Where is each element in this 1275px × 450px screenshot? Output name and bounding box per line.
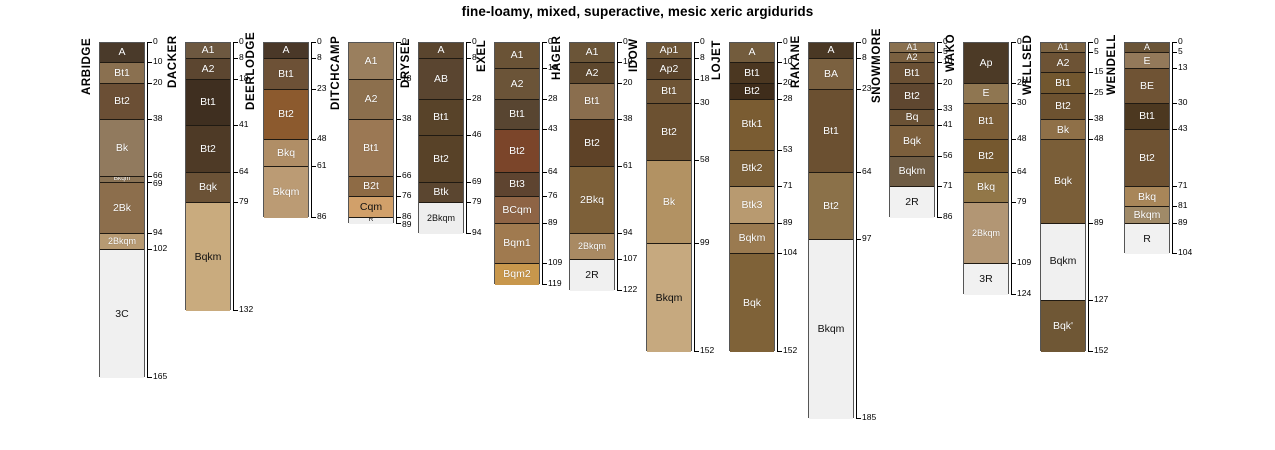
depth-tick-mark	[1172, 68, 1177, 69]
depth-tick-mark	[694, 243, 699, 244]
depth-tick-mark	[1172, 129, 1177, 130]
horizon-label: 2Bkqm	[108, 237, 136, 246]
horizon-label: Bt2	[509, 146, 525, 157]
horizon-block: Bt1	[570, 84, 614, 121]
horizon-label: Bkqm	[1134, 210, 1161, 221]
horizon-label: Bqm2	[503, 269, 530, 280]
depth-tick-mark	[937, 125, 942, 126]
depth-tick-label: 109	[1017, 258, 1031, 267]
depth-tick-mark	[1172, 103, 1177, 104]
profile-name-label: WENDELL	[1106, 34, 1118, 95]
horizon-label: Bt1	[200, 97, 216, 108]
horizon-label: 2Bk	[113, 203, 131, 214]
horizon-block: Bk	[1041, 120, 1085, 140]
depth-axis	[937, 42, 938, 217]
horizon-label: A2	[202, 64, 215, 75]
horizon-label: E	[1143, 56, 1150, 67]
depth-tick-label: 79	[239, 197, 248, 206]
horizon-label: A1	[906, 43, 917, 52]
depth-tick-mark	[1011, 202, 1016, 203]
horizon-label: 3R	[979, 274, 992, 285]
depth-tick-mark	[1088, 119, 1093, 120]
horizon-label: Bt2	[114, 96, 130, 107]
horizon-label: 2Bkqm	[578, 242, 606, 251]
horizon-label: Bqkm	[739, 233, 766, 244]
depth-tick-label: 71	[943, 181, 952, 190]
depth-tick-mark	[147, 62, 152, 63]
depth-tick-mark	[233, 172, 238, 173]
horizon-label: Bqkm	[1050, 256, 1077, 267]
depth-tick-label: 8	[239, 53, 244, 62]
depth-tick-label: 89	[548, 218, 557, 227]
horizon-label: Ap	[980, 58, 993, 69]
depth-tick-label: 64	[548, 167, 557, 176]
depth-tick-mark	[542, 223, 547, 224]
horizon-label: B2t	[363, 181, 379, 192]
horizon-column: A1A2Bt1Bt2BqBqkBqkm2R	[889, 42, 935, 217]
horizon-block: Bt2	[100, 84, 144, 121]
horizon-block: Cqm	[349, 197, 393, 217]
horizon-column: A1A2Bt1Bt2Bt3BCqmBqm1Bqm2	[494, 42, 540, 284]
depth-axis	[466, 42, 467, 233]
horizon-block: Bqk'	[1041, 301, 1085, 352]
depth-tick-mark	[1172, 42, 1177, 43]
depth-axis	[542, 42, 543, 284]
depth-tick-mark	[617, 83, 622, 84]
horizon-label: Bt2	[1139, 153, 1155, 164]
depth-tick-label: 89	[1094, 218, 1103, 227]
depth-tick-label: 18	[700, 74, 709, 83]
horizon-label: Bt1	[584, 96, 600, 107]
depth-tick-label: 165	[153, 372, 167, 381]
depth-tick-mark	[542, 263, 547, 264]
horizon-label: A1	[202, 45, 215, 56]
horizon-block: 2Bkqm	[964, 203, 1008, 264]
depth-tick-mark	[311, 42, 316, 43]
depth-axis	[233, 42, 234, 310]
horizon-block: Bt2	[264, 90, 308, 141]
horizon-label: Bkq	[977, 182, 995, 193]
depth-tick-label: 94	[472, 228, 481, 237]
depth-tick-label: 20	[623, 78, 632, 87]
horizon-block: Bqk	[1041, 140, 1085, 223]
depth-tick-label: 0	[1094, 37, 1099, 46]
horizon-label: 2Bkqm	[972, 229, 1000, 238]
depth-tick-mark	[396, 217, 401, 218]
depth-tick-label: 8	[317, 53, 322, 62]
horizon-block: Bt1	[809, 90, 853, 173]
depth-tick-mark	[147, 182, 152, 183]
horizon-label: Bt1	[744, 68, 760, 79]
horizon-label: Bt1	[433, 112, 449, 123]
horizon-block: Bt1	[349, 120, 393, 177]
depth-tick-mark	[617, 290, 622, 291]
depth-tick-mark	[147, 249, 152, 250]
depth-tick-mark	[1088, 72, 1093, 73]
depth-tick-label: 94	[153, 228, 162, 237]
depth-tick-mark	[1088, 52, 1093, 53]
depth-tick-label: 5	[1094, 47, 1099, 56]
profile-name-label: SNOWMORE	[871, 28, 883, 103]
depth-tick-label: 0	[783, 37, 788, 46]
depth-tick-label: 109	[548, 258, 562, 267]
depth-tick-label: 53	[783, 145, 792, 154]
depth-tick-mark	[937, 156, 942, 157]
depth-tick-label: 5	[1178, 47, 1183, 56]
horizon-label: Bt2	[1055, 101, 1071, 112]
depth-axis	[1011, 42, 1012, 294]
depth-tick-label: 43	[1178, 124, 1187, 133]
depth-tick-mark	[233, 79, 238, 80]
horizon-label: Bt2	[904, 91, 920, 102]
depth-tick-mark	[694, 160, 699, 161]
horizon-block: 2Bkqm	[419, 203, 463, 233]
horizon-block: Bkqm	[1125, 207, 1169, 223]
depth-tick-label: 15	[1094, 67, 1103, 76]
horizon-label: Bt2	[744, 86, 760, 97]
horizon-block: A2	[186, 59, 230, 79]
depth-tick-mark	[233, 202, 238, 203]
depth-tick-mark	[1011, 83, 1016, 84]
depth-tick-mark	[1172, 52, 1177, 53]
depth-tick-mark	[1088, 351, 1093, 352]
depth-tick-mark	[396, 196, 401, 197]
depth-tick-mark	[542, 42, 547, 43]
horizon-block: Bt2	[809, 173, 853, 240]
horizon-label: Ap2	[660, 64, 679, 75]
depth-tick-label: 64	[1017, 167, 1026, 176]
horizon-label: Bt1	[1055, 78, 1071, 89]
depth-tick-label: 71	[783, 181, 792, 190]
depth-tick-mark	[396, 223, 401, 224]
horizon-column: ApEBt1Bt2Bkq2Bkqm3R	[963, 42, 1009, 294]
horizon-block: Bqk	[186, 173, 230, 203]
depth-tick-label: 76	[402, 191, 411, 200]
depth-tick-label: 28	[548, 94, 557, 103]
horizon-label: Bqk	[743, 298, 761, 309]
depth-axis	[856, 42, 857, 418]
depth-tick-mark	[937, 109, 942, 110]
horizon-block: Bkqm	[264, 167, 308, 218]
depth-tick-label: 132	[239, 305, 253, 314]
horizon-label: Bt1	[904, 68, 920, 79]
depth-tick-mark	[147, 83, 152, 84]
depth-tick-mark	[311, 139, 316, 140]
horizon-block: A1	[186, 43, 230, 59]
depth-tick-label: 89	[1178, 218, 1187, 227]
depth-tick-mark	[396, 176, 401, 177]
horizon-label: A	[118, 47, 125, 58]
horizon-label: R	[1143, 234, 1151, 245]
depth-tick-mark	[856, 172, 861, 173]
horizon-block: Bkq	[264, 140, 308, 166]
depth-tick-mark	[856, 239, 861, 240]
horizon-column: A1A2Bt1Bt22Bkq2Bkqm2R	[569, 42, 615, 290]
depth-tick-label: 43	[548, 124, 557, 133]
profile-name-label: WELLSED	[1022, 35, 1034, 95]
depth-tick-mark	[147, 119, 152, 120]
depth-tick-label: 38	[153, 114, 162, 123]
horizon-block: Bt1	[1125, 104, 1169, 130]
depth-tick-mark	[233, 42, 238, 43]
depth-tick-label: 41	[239, 120, 248, 129]
horizon-block: Ap1	[647, 43, 691, 59]
horizon-label: E	[982, 88, 989, 99]
horizon-block: Bqm2	[495, 264, 539, 284]
profile-name-label: DEERLODGE	[245, 32, 257, 110]
depth-tick-mark	[937, 83, 942, 84]
depth-tick-label: 0	[700, 37, 705, 46]
depth-tick-label: 8	[700, 53, 705, 62]
horizon-block: A2	[349, 80, 393, 121]
horizon-block: Bqkm	[730, 224, 774, 254]
horizon-block: Bt2	[570, 120, 614, 167]
horizon-label: A2	[365, 94, 378, 105]
depth-tick-mark	[856, 58, 861, 59]
depth-tick-mark	[777, 186, 782, 187]
horizon-block: Ap2	[647, 59, 691, 79]
depth-tick-mark	[233, 125, 238, 126]
depth-tick-mark	[617, 166, 622, 167]
horizon-block: BA	[809, 59, 853, 89]
depth-tick-mark	[311, 166, 316, 167]
horizon-label: Btk3	[741, 200, 762, 211]
horizon-block: Btk2	[730, 151, 774, 188]
horizon-label: Bkqm	[273, 187, 300, 198]
depth-tick-mark	[542, 99, 547, 100]
depth-tick-mark	[466, 42, 471, 43]
horizon-label: A	[437, 45, 444, 56]
horizon-block: Bt2	[1125, 130, 1169, 187]
horizon-block: Bkq	[964, 173, 1008, 203]
profile-name-label: WAKO	[945, 34, 957, 72]
horizon-block: Bt1	[100, 63, 144, 83]
depth-axis	[311, 42, 312, 217]
horizon-block: R	[349, 218, 393, 224]
depth-tick-mark	[542, 196, 547, 197]
horizon-block: B2t	[349, 177, 393, 197]
horizon-block: Bt1	[419, 100, 463, 137]
depth-tick-mark	[1011, 139, 1016, 140]
depth-axis	[1088, 42, 1089, 351]
horizon-column: ABt1Bt2Btk1Btk2Btk3BqkmBqk	[729, 42, 775, 351]
horizon-block: A	[264, 43, 308, 59]
horizon-block: BE	[1125, 69, 1169, 104]
depth-tick-label: 86	[317, 212, 326, 221]
depth-tick-label: 107	[623, 254, 637, 263]
horizon-label: Btk1	[741, 119, 762, 130]
depth-tick-label: 152	[1094, 346, 1108, 355]
horizon-label: Bt3	[509, 179, 525, 190]
depth-tick-mark	[937, 186, 942, 187]
soil-profile-chart: ARBIDGEABt1Bt2BkBkqm2Bk2Bkqm3C0102038666…	[0, 0, 1275, 450]
horizon-block: A	[100, 43, 144, 63]
depth-tick-mark	[1172, 186, 1177, 187]
depth-tick-label: 104	[783, 248, 797, 257]
profile-name-label: IDOW	[628, 39, 640, 73]
horizon-block: Bt1	[495, 100, 539, 130]
horizon-label: 2R	[905, 197, 918, 208]
depth-tick-label: 10	[153, 57, 162, 66]
horizon-label: Bk	[116, 143, 128, 154]
horizon-label: Bt2	[433, 154, 449, 165]
profile-name-label: LOJET	[711, 40, 723, 80]
depth-tick-label: 48	[1094, 134, 1103, 143]
horizon-column: A1A2Bt1Bt2BkBqkBqkmBqk'	[1040, 42, 1086, 351]
depth-tick-mark	[311, 217, 316, 218]
depth-tick-label: 23	[317, 84, 326, 93]
horizon-block: Bt3	[495, 173, 539, 197]
depth-tick-mark	[1088, 300, 1093, 301]
horizon-block: Bt2	[419, 136, 463, 183]
horizon-block: Bt1	[1041, 73, 1085, 93]
depth-tick-mark	[694, 58, 699, 59]
depth-tick-label: 46	[472, 130, 481, 139]
horizon-label: Bk	[663, 197, 675, 208]
horizon-block: Bqk	[730, 254, 774, 351]
horizon-label: A	[827, 45, 834, 56]
horizon-label: 2R	[585, 270, 598, 281]
horizon-block: Bt1	[730, 63, 774, 83]
depth-tick-mark	[233, 310, 238, 311]
horizon-block: A	[809, 43, 853, 59]
depth-tick-mark	[1011, 172, 1016, 173]
horizon-label: Bt1	[509, 109, 525, 120]
depth-tick-label: 0	[153, 37, 158, 46]
depth-tick-mark	[777, 62, 782, 63]
horizon-block: 2Bkqm	[100, 234, 144, 250]
depth-tick-label: 20	[153, 78, 162, 87]
depth-tick-mark	[937, 217, 942, 218]
horizon-block: Bk	[100, 120, 144, 177]
horizon-block: 3C	[100, 250, 144, 378]
depth-tick-label: 79	[1017, 197, 1026, 206]
horizon-label: A	[1144, 43, 1150, 52]
horizon-block: Bt1	[890, 63, 934, 83]
horizon-label: Bt1	[661, 86, 677, 97]
depth-tick-label: 119	[548, 279, 562, 288]
profile-name-label: HAGER	[551, 35, 563, 80]
horizon-block: E	[964, 84, 1008, 104]
depth-tick-mark	[147, 42, 152, 43]
horizon-block: A1	[570, 43, 614, 63]
horizon-block: A1	[349, 43, 393, 80]
depth-tick-mark	[147, 233, 152, 234]
horizon-label: A1	[511, 50, 524, 61]
horizon-label: Bkqm	[656, 293, 683, 304]
depth-tick-mark	[1088, 139, 1093, 140]
depth-tick-mark	[542, 129, 547, 130]
horizon-block: Btk	[419, 183, 463, 203]
horizon-label: Ap1	[660, 45, 679, 56]
horizon-label: BE	[1140, 81, 1154, 92]
horizon-block: Bkqm	[647, 244, 691, 352]
horizon-label: Bqk	[199, 182, 217, 193]
depth-tick-label: 0	[317, 37, 322, 46]
horizon-block: Bqm1	[495, 224, 539, 265]
depth-tick-mark	[937, 42, 942, 43]
horizon-column: ABt1Bt2BkBkqm2Bk2Bkqm3C	[99, 42, 145, 377]
depth-tick-label: 30	[700, 98, 709, 107]
horizon-block: 2Bkq	[570, 167, 614, 234]
horizon-label: A1	[365, 56, 378, 67]
horizon-label: Bt1	[978, 116, 994, 127]
horizon-column: ABt1Bt2BkqBkqm	[263, 42, 309, 217]
horizon-block: 2R	[570, 260, 614, 290]
depth-tick-mark	[1172, 223, 1177, 224]
depth-tick-label: 81	[1178, 201, 1187, 210]
horizon-block: E	[1125, 53, 1169, 69]
horizon-block: 2R	[890, 187, 934, 217]
horizon-label: A2	[511, 79, 524, 90]
depth-tick-label: 102	[153, 244, 167, 253]
horizon-label: Bt1	[823, 126, 839, 137]
depth-tick-label: 13	[1178, 63, 1187, 72]
horizon-block: BCqm	[495, 197, 539, 223]
depth-tick-label: 38	[402, 114, 411, 123]
depth-tick-label: 38	[1094, 114, 1103, 123]
horizon-column: Ap1Ap2Bt1Bt2BkBkqm	[646, 42, 692, 351]
depth-tick-label: 33	[943, 104, 952, 113]
depth-axis	[1172, 42, 1173, 253]
horizon-block: Bt1	[647, 80, 691, 104]
horizon-label: Bq	[906, 112, 919, 123]
horizon-block: Bt2	[890, 84, 934, 110]
depth-tick-mark	[466, 202, 471, 203]
profile-name-label: DRYSEL	[400, 38, 412, 88]
horizon-label: A	[748, 47, 755, 58]
depth-tick-mark	[233, 58, 238, 59]
depth-tick-mark	[777, 150, 782, 151]
depth-tick-label: 0	[239, 37, 244, 46]
horizon-block: Btk1	[730, 100, 774, 151]
depth-tick-mark	[1011, 263, 1016, 264]
horizon-block: Bt1	[964, 104, 1008, 141]
depth-tick-mark	[694, 351, 699, 352]
depth-tick-label: 41	[943, 120, 952, 129]
horizon-label: Bkq	[277, 148, 295, 159]
depth-tick-mark	[542, 284, 547, 285]
horizon-block: A	[1125, 43, 1169, 53]
horizon-block: Bqkm	[1041, 224, 1085, 301]
depth-tick-mark	[147, 377, 152, 378]
horizon-block: A2	[890, 53, 934, 63]
profile-name-label: EXEL	[476, 40, 488, 72]
depth-tick-mark	[777, 223, 782, 224]
depth-tick-mark	[777, 99, 782, 100]
horizon-block: Bt2	[495, 130, 539, 173]
profile-name-label: RAKANE	[790, 35, 802, 88]
horizon-label: 3C	[115, 309, 128, 320]
depth-tick-mark	[856, 42, 861, 43]
depth-tick-mark	[617, 62, 622, 63]
depth-tick-label: 124	[1017, 289, 1031, 298]
horizon-label: Bkqm	[114, 177, 131, 183]
horizon-label: Bt1	[114, 68, 130, 79]
depth-tick-label: 30	[1178, 98, 1187, 107]
horizon-block: Bt2	[964, 140, 1008, 172]
horizon-label: BCqm	[502, 205, 531, 216]
horizon-block: Bkqm	[809, 240, 853, 419]
horizon-label: Bt2	[278, 109, 294, 120]
horizon-block: Bqkm	[186, 203, 230, 311]
depth-tick-label: 64	[862, 167, 871, 176]
horizon-label: Btk	[433, 187, 448, 198]
horizon-label: A	[282, 45, 289, 56]
horizon-column: ABABt1Bt2Bkqm	[808, 42, 854, 418]
horizon-label: A2	[586, 68, 599, 79]
horizon-label: Bt2	[661, 127, 677, 138]
